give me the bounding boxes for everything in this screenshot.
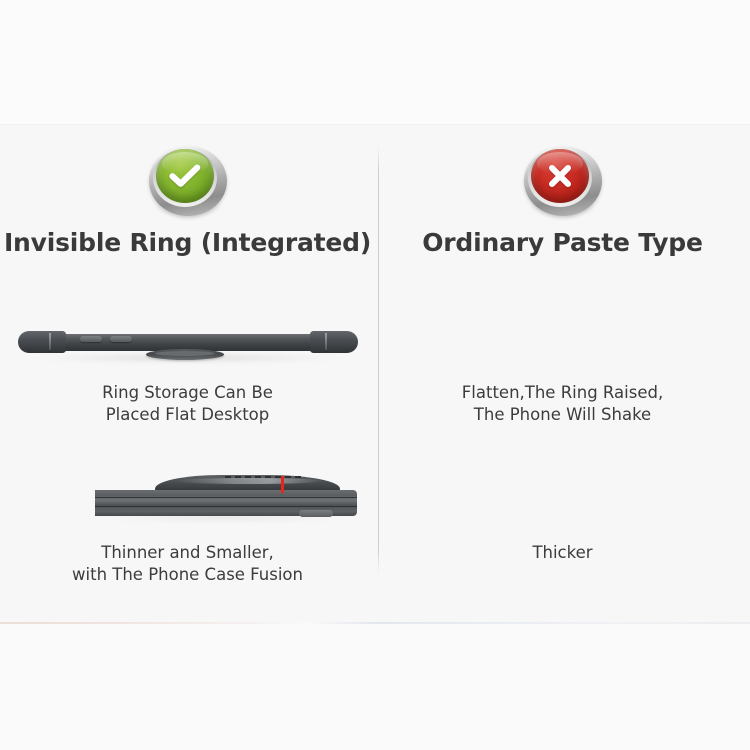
- volume-button-down: [110, 336, 132, 342]
- comparison-column-right: Ordinary Paste Type Flatten,The Ring Rai…: [375, 124, 750, 623]
- comparison-column-left: Invisible Ring (Integrated) Ring Storage…: [0, 124, 375, 623]
- caption-left-lower: Thinner and Smaller, with The Phone Case…: [0, 542, 375, 586]
- case-seam-upper: [95, 497, 357, 498]
- status-badge-no: [521, 144, 605, 222]
- caption-left-upper: Ring Storage Can Be Placed Flat Desktop: [0, 382, 375, 426]
- phone-end-cap-left: [18, 331, 66, 353]
- phone-antenna-seam-right: [325, 333, 327, 350]
- infographic-stage: Invisible Ring (Integrated) Ring Storage…: [0, 0, 750, 750]
- case-port-cutout: [299, 510, 333, 517]
- caption-right-lower: Thicker: [375, 542, 750, 564]
- caption-line-2: with The Phone Case Fusion: [0, 564, 375, 586]
- caption-right-upper: Flatten,The Ring Raised, The Phone Will …: [375, 382, 750, 426]
- phone-case-thin-ring-thickness-gauge: [0, 454, 375, 534]
- thickness-gauge-marker: [281, 476, 284, 493]
- caption-line-1: Flatten,The Ring Raised,: [375, 382, 750, 404]
- caption-line-1: Thinner and Smaller,: [0, 542, 375, 564]
- check-circle-icon: [156, 149, 214, 203]
- integrated-ring-flush: [146, 349, 224, 360]
- volume-button-up: [80, 336, 102, 342]
- phone-side-profile-flat-integrated-ring: [12, 320, 364, 372]
- caption-line-2: The Phone Will Shake: [375, 404, 750, 426]
- caption-line-1: Thicker: [375, 542, 750, 564]
- phone-end-cap-right: [310, 331, 358, 353]
- status-badge-ok: [146, 144, 230, 222]
- cross-circle-icon: [531, 149, 589, 203]
- thickness-dashed-guide: [225, 476, 301, 478]
- phone-antenna-seam-left: [49, 333, 51, 350]
- caption-line-2: Placed Flat Desktop: [0, 404, 375, 426]
- caption-line-1: Ring Storage Can Be: [0, 382, 375, 404]
- section-title-right: Ordinary Paste Type: [375, 228, 750, 257]
- section-title-left: Invisible Ring (Integrated): [0, 228, 375, 257]
- case-seam-lower: [95, 506, 357, 507]
